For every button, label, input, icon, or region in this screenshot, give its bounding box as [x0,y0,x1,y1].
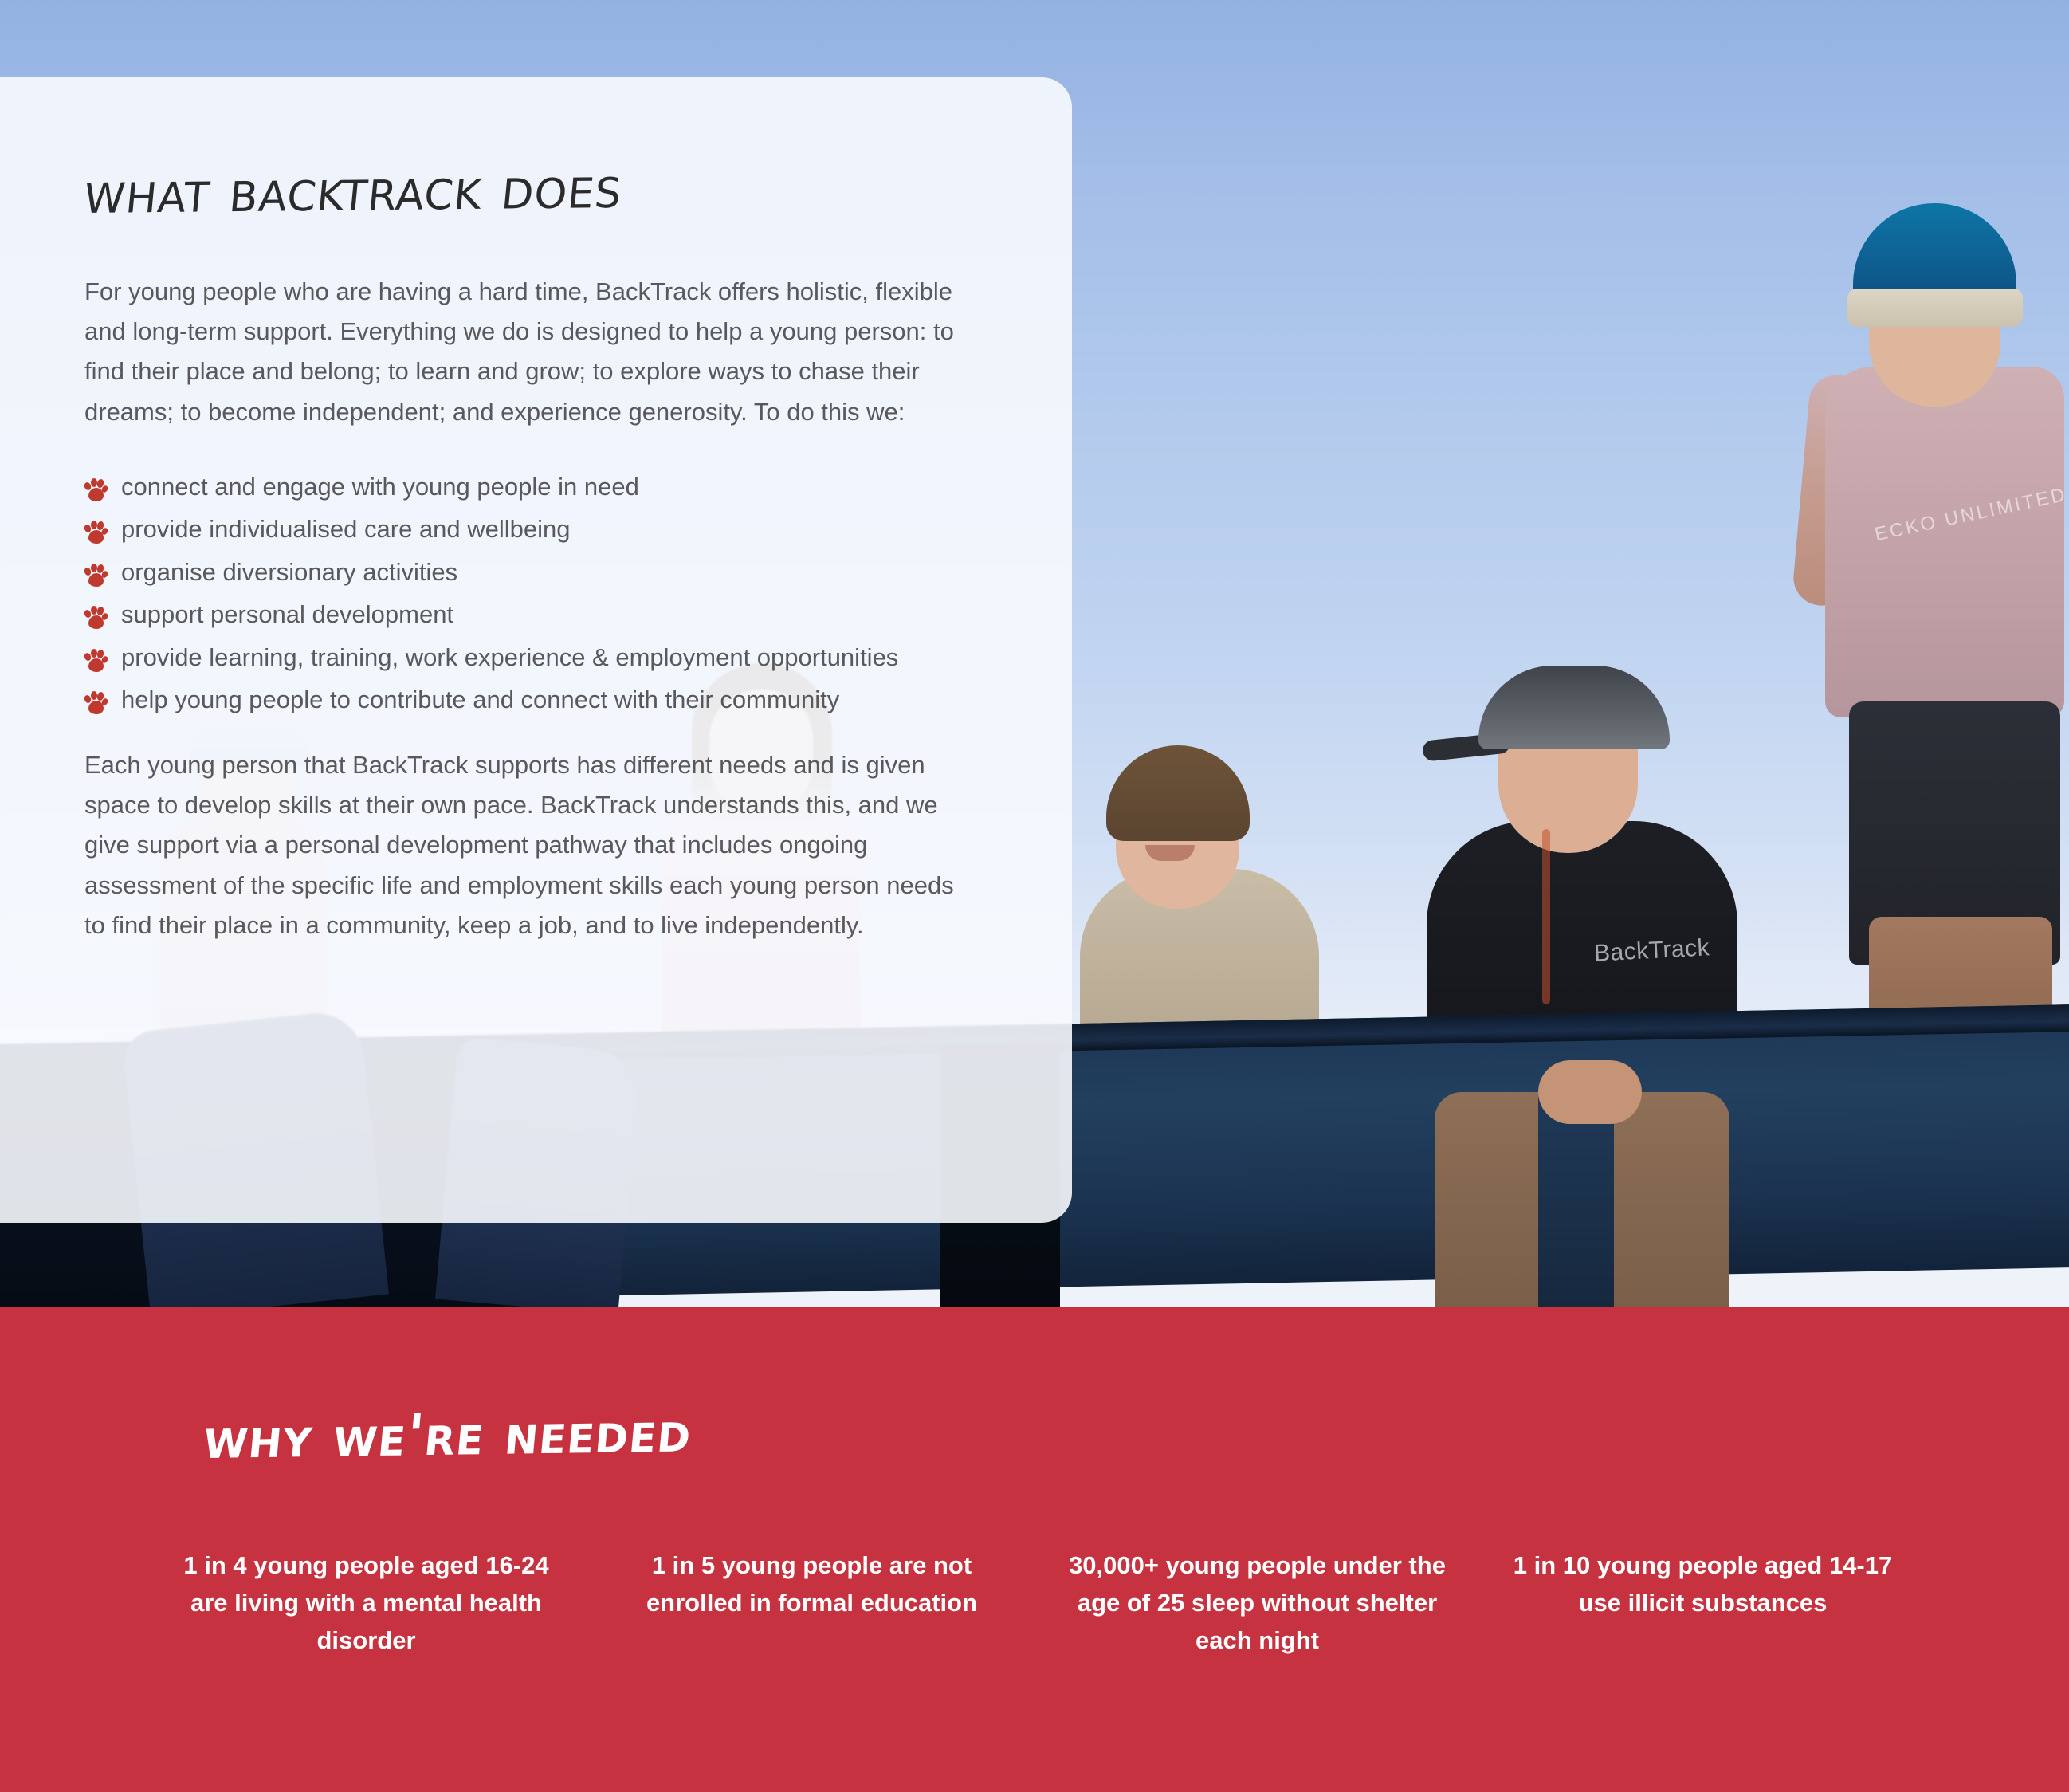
photo-figure-teen-hands [1538,1060,1642,1124]
photo-figure-teen-jacket-zip [1542,829,1550,1004]
list-item-label: connect and engage with young people in … [121,467,639,508]
stat-item-mental-health: 1 in 4 young people aged 16-24 are livin… [143,1546,589,1659]
photo-figure-standing-beanie-cuff [1847,289,2023,327]
list-item-label: provide learning, training, work experie… [121,638,898,678]
stat-item-education: 1 in 5 young people are not enrolled in … [589,1546,1034,1659]
paw-print-icon [84,564,105,588]
list-item-label: help young people to contribute and conn… [121,680,839,721]
paw-print-icon [84,521,105,544]
photo-figure-teen-legs-gap [1538,1092,1614,1307]
content-card: What BackTrack Does For young people who… [0,77,1072,1223]
stats-grid: 1 in 4 young people aged 16-24 are livin… [0,1546,2069,1659]
list-item: connect and engage with young people in … [84,467,976,508]
list-item-label: support personal development [121,595,453,635]
paw-print-icon [84,478,105,502]
list-item-label: provide individualised care and wellbein… [121,509,571,550]
page-root: BackTrack ECKO UNLIMITED What BackTrack … [0,0,2069,1792]
hero-photo-section: BackTrack ECKO UNLIMITED What BackTrack … [0,0,2069,1307]
closing-paragraph: Each young person that BackTrack support… [84,745,976,945]
paw-print-icon [84,649,105,673]
list-item: provide learning, training, work experie… [84,638,976,678]
why-we-are-needed-section: Why We're Needed 1 in 4 young people age… [0,1307,2069,1792]
intro-paragraph: For young people who are having a hard t… [84,272,976,432]
stat-item-homelessness: 30,000+ young people under the age of 25… [1034,1546,1480,1659]
photo-figure-standing-shirt [1825,367,2064,717]
list-item-label: organise diversionary activities [121,552,457,593]
services-bullet-list: connect and engage with young people in … [84,467,976,721]
stat-item-substances: 1 in 10 young people aged 14-17 use illi… [1480,1546,1926,1659]
paw-print-icon [84,606,105,630]
stats-section-title: Why We're Needed [202,1281,2069,1467]
list-item: support personal development [84,595,976,635]
page-title: What BackTrack Does [81,154,980,222]
list-item: provide individualised care and wellbein… [84,509,976,550]
list-item: help young people to contribute and conn… [84,680,976,721]
paw-print-icon [84,691,105,715]
list-item: organise diversionary activities [84,552,976,593]
